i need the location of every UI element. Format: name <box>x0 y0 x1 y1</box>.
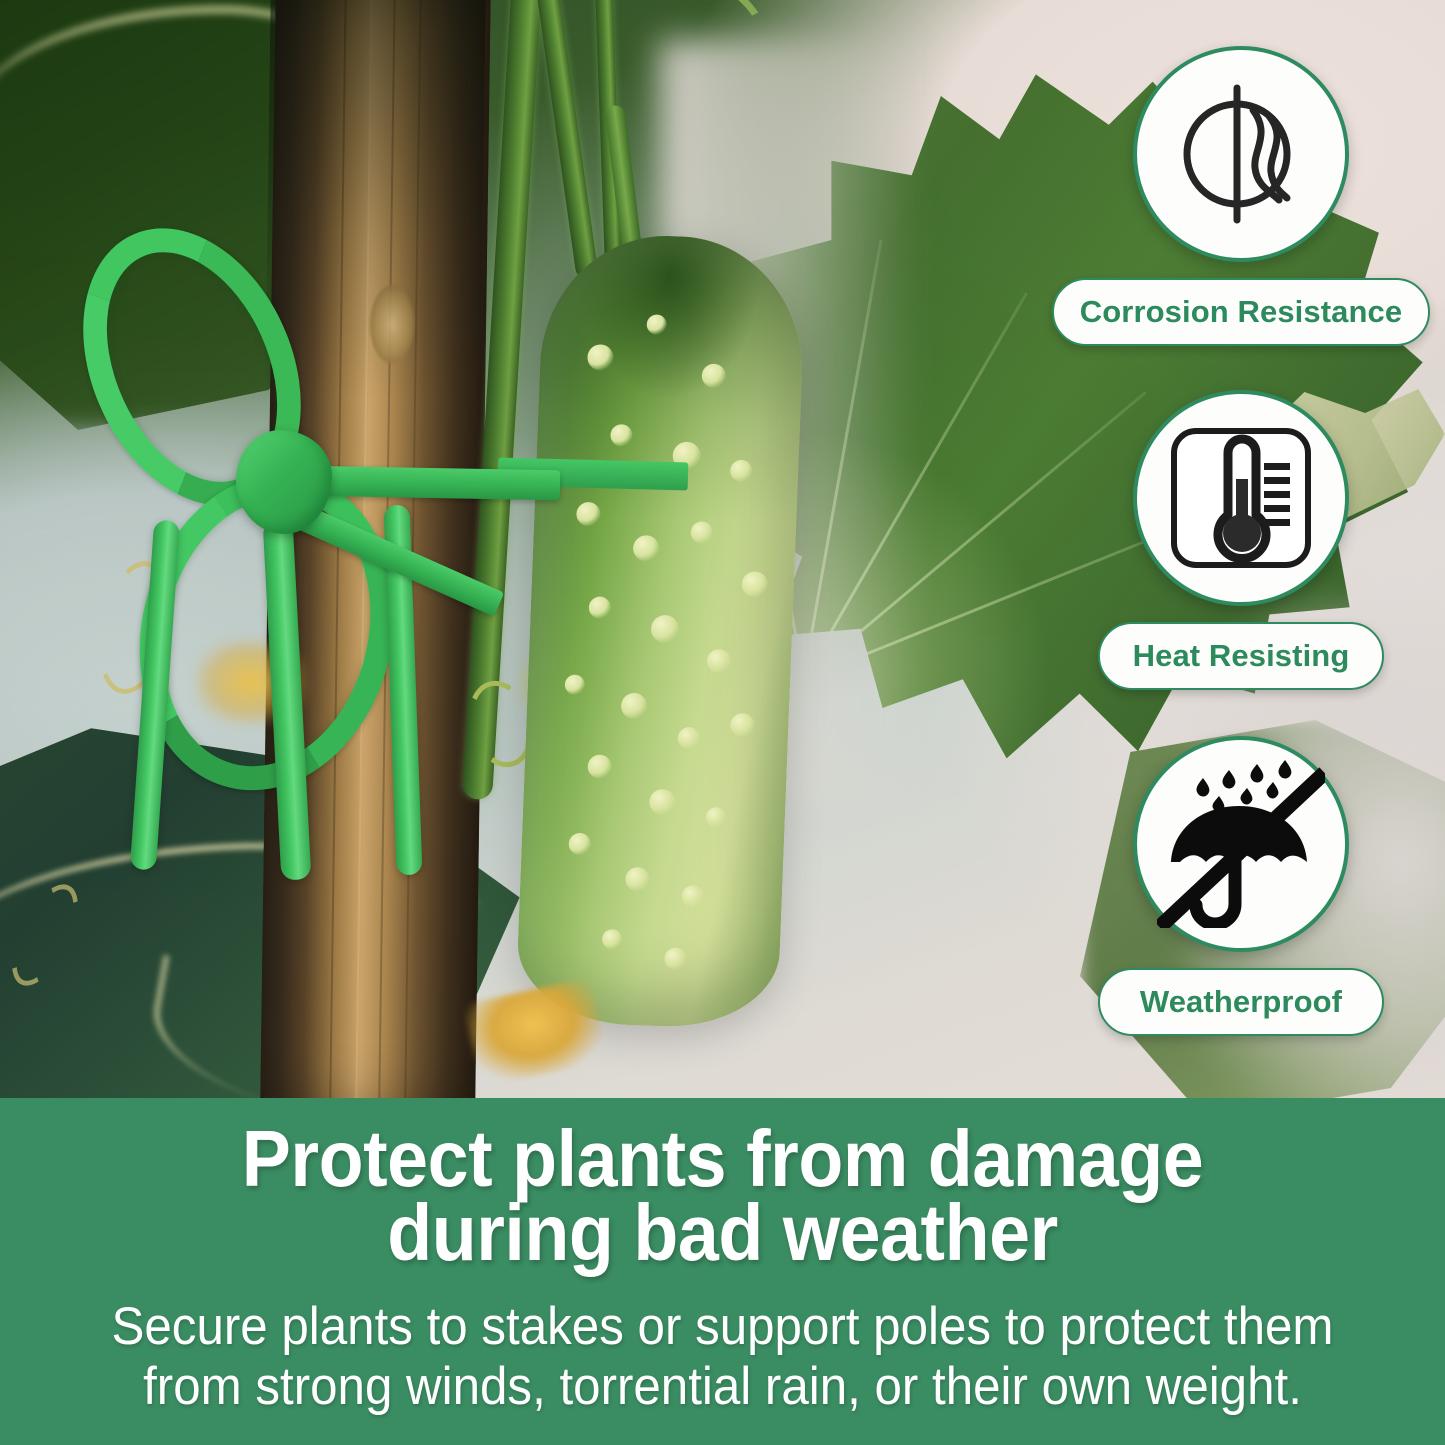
tie-band-horizontal <box>300 466 560 501</box>
corrosion-resistance-icon <box>1175 80 1307 228</box>
banner-subcopy: Secure plants to stakes or support poles… <box>75 1297 1370 1418</box>
badge-label-pill: Heat Resisting <box>1098 622 1384 690</box>
stake-shadow <box>265 0 486 401</box>
cucumber-blossom <box>463 977 608 1087</box>
badge-label-pill: Corrosion Resistance <box>1052 278 1430 346</box>
feature-badge-weatherproof[interactable]: Weatherproof <box>1081 736 1401 1036</box>
badge-label-text: Corrosion Resistance <box>1080 294 1402 329</box>
feature-badge-corrosion-resistance[interactable]: Corrosion Resistance <box>1081 46 1401 346</box>
badge-icon-circle <box>1133 736 1349 952</box>
feature-badge-heat-resisting[interactable]: Heat Resisting <box>1081 390 1401 690</box>
umbrella-rain-crossed-icon <box>1157 760 1325 928</box>
badge-label-pill: Weatherproof <box>1098 968 1384 1036</box>
product-infographic: Corrosion Resistance <box>0 0 1445 1445</box>
badge-icon-circle <box>1133 46 1349 262</box>
headline-line-2: during bad weather <box>82 1196 1364 1270</box>
badge-label-text: Heat Resisting <box>1133 638 1350 673</box>
subcopy-line-2: from strong winds, torrential rain, or t… <box>75 1357 1370 1417</box>
bottom-message-banner: Protect plants from damage during bad we… <box>0 1098 1445 1445</box>
cucumber-fruit <box>515 231 807 1030</box>
feature-badge-list: Corrosion Resistance <box>1081 46 1401 1066</box>
banner-headline: Protect plants from damage during bad we… <box>82 1122 1364 1271</box>
badge-label-text: Weatherproof <box>1140 984 1342 1019</box>
subcopy-line-1: Secure plants to stakes or support poles… <box>112 1297 1334 1356</box>
badge-icon-circle <box>1133 390 1349 606</box>
thermometer-icon <box>1168 425 1314 571</box>
